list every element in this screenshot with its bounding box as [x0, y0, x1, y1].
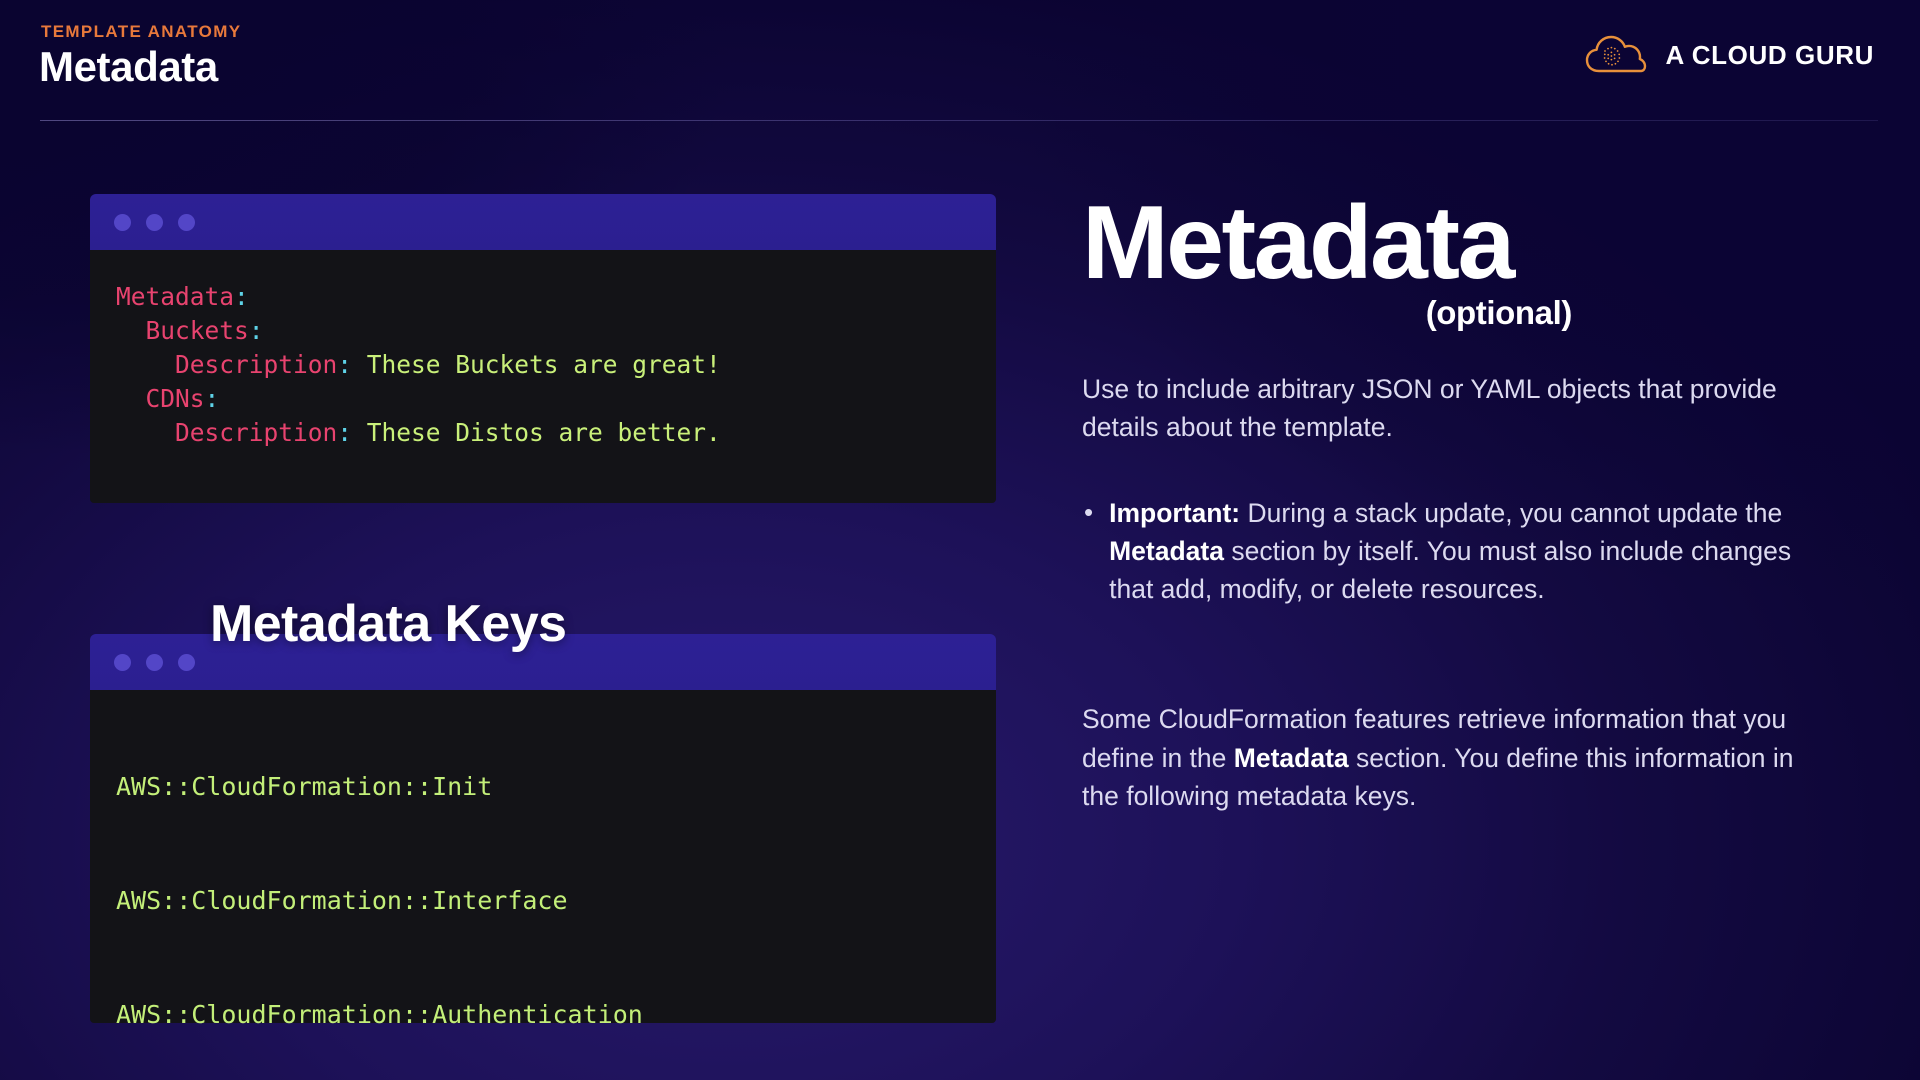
code-block-yaml: Metadata: Buckets: Description: These Bu… — [90, 250, 996, 503]
yaml-colon: : — [234, 282, 249, 311]
important-bullet: • Important: During a stack update, you … — [1082, 494, 1822, 608]
code-line: Description: These Distos are better. — [175, 418, 721, 447]
metadata-key-item: AWS::CloudFormation::Init — [116, 774, 970, 799]
yaml-key: Description — [175, 418, 337, 447]
metadata-key-item: AWS::CloudFormation::Authentication — [116, 1002, 970, 1027]
slide-header: TEMPLATE ANATOMY Metadata — [0, 0, 1920, 122]
yaml-colon: : — [337, 350, 352, 379]
yaml-key: CDNs — [146, 384, 205, 413]
eyebrow-label: TEMPLATE ANATOMY — [41, 22, 241, 42]
page-title: Metadata — [39, 43, 218, 91]
right-content-column: Metadata (optional) Use to include arbit… — [1082, 196, 1822, 815]
yaml-key: Description — [175, 350, 337, 379]
code-block-keys: AWS::CloudFormation::Init AWS::CloudForm… — [90, 690, 996, 1023]
code-line: Description: These Buckets are great! — [175, 350, 721, 379]
window-dot-maximize-icon[interactable] — [178, 654, 195, 671]
important-bullet-text: Important: During a stack update, you ca… — [1109, 494, 1822, 608]
yaml-value: These Distos are better. — [352, 418, 721, 447]
yaml-colon: : — [205, 384, 220, 413]
bullet-point-icon: • — [1084, 494, 1093, 531]
yaml-key: Buckets — [146, 316, 249, 345]
bullet-emphasis: Metadata — [1109, 536, 1224, 566]
yaml-colon: : — [249, 316, 264, 345]
important-label: Important: — [1109, 498, 1240, 528]
code-window-metadata-example: Metadata: Buckets: Description: These Bu… — [90, 194, 996, 503]
window-dot-maximize-icon[interactable] — [178, 214, 195, 231]
header-divider — [40, 120, 1878, 121]
brand-logo: A CLOUD GURU — [1585, 33, 1874, 77]
metadata-key-item: AWS::CloudFormation::Interface — [116, 888, 970, 913]
cloud-outline-icon — [1585, 33, 1647, 77]
code-window-metadata-keys: AWS::CloudFormation::Init AWS::CloudForm… — [90, 634, 996, 1023]
yaml-colon: : — [337, 418, 352, 447]
code-window-titlebar — [90, 194, 996, 250]
code-line: Metadata: — [116, 282, 249, 311]
code-line: Buckets: — [146, 316, 264, 345]
section-title: Metadata — [1082, 196, 1822, 292]
brand-name: A CLOUD GURU — [1666, 40, 1874, 71]
closing-emphasis: Metadata — [1234, 743, 1349, 773]
closing-paragraph: Some CloudFormation features retrieve in… — [1082, 700, 1822, 814]
bullet-body-a: During a stack update, you cannot update… — [1240, 498, 1782, 528]
yaml-key: Metadata — [116, 282, 234, 311]
window-dot-close-icon[interactable] — [114, 654, 131, 671]
code-line: CDNs: — [146, 384, 220, 413]
yaml-value: These Buckets are great! — [352, 350, 721, 379]
intro-paragraph: Use to include arbitrary JSON or YAML ob… — [1082, 370, 1822, 446]
window-dot-close-icon[interactable] — [114, 214, 131, 231]
window-dot-minimize-icon[interactable] — [146, 214, 163, 231]
metadata-keys-heading: Metadata Keys — [210, 594, 566, 654]
slide-root: TEMPLATE ANATOMY Metadata — [0, 0, 1920, 1080]
window-dot-minimize-icon[interactable] — [146, 654, 163, 671]
